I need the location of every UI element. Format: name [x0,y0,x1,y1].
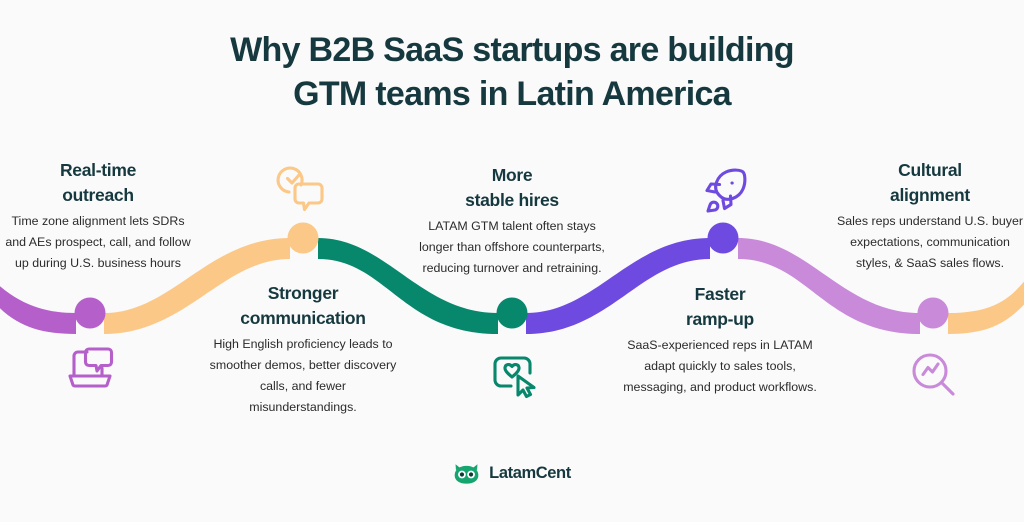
step-title-2-line-2: communication [240,308,365,328]
wave-segment-6 [948,272,1024,334]
infographic-canvas: Why B2B SaaS startups are building GTM t… [0,0,1024,522]
wave-node-5 [918,298,949,329]
step-item-3: More stable hires LATAM GTM talent often… [412,163,612,279]
step-body-1: Time zone alignment lets SDRs and AEs pr… [0,211,196,274]
wave-node-2 [288,223,319,254]
page-title: Why B2B SaaS startups are building GTM t… [0,28,1024,116]
laptop-chat-icon [62,340,118,396]
title-line-1: Why B2B SaaS startups are building [0,28,1024,72]
step-item-5: Cultural alignment Sales reps understand… [832,158,1024,274]
wave-segment-1 [0,281,76,334]
step-body-4: SaaS-experienced reps in LATAM adapt qui… [620,335,820,398]
step-title-4-line-1: Faster [695,284,746,304]
wave-node-4 [708,223,739,254]
wave-node-1 [75,298,106,329]
step-item-4: Faster ramp-up SaaS-experienced reps in … [620,282,820,398]
step-title-4-line-2: ramp-up [686,309,754,329]
step-title-2: Stronger communication [205,281,401,331]
step-title-1-line-2: outreach [62,185,134,205]
step-body-5: Sales reps understand U.S. buyer expecta… [832,211,1024,274]
step-title-2-line-1: Stronger [268,283,339,303]
step-body-3: LATAM GTM talent often stays longer than… [412,216,612,279]
step-title-3: More stable hires [412,163,612,213]
step-item-2: Stronger communication High English prof… [205,281,401,418]
brand-name: LatamCent [489,464,571,483]
step-title-4: Faster ramp-up [620,282,820,332]
search-trend-icon [905,346,961,402]
wave-node-3 [497,298,528,329]
step-title-1: Real-time outreach [0,158,196,208]
step-title-3-line-1: More [492,165,533,185]
check-chat-icon [273,161,329,217]
step-title-5-line-1: Cultural [898,160,962,180]
step-body-2: High English proficiency leads to smooth… [205,334,401,418]
brand-logo: LatamCent [0,460,1024,487]
step-title-5-line-2: alignment [890,185,970,205]
step-title-5: Cultural alignment [832,158,1024,208]
rocket-icon [696,162,752,218]
heart-cursor-icon [484,345,540,401]
title-line-2: GTM teams in Latin America [0,72,1024,116]
latamcent-owl-logo [453,460,480,487]
step-title-1-line-1: Real-time [60,160,136,180]
step-item-1: Real-time outreach Time zone alignment l… [0,158,196,274]
step-title-3-line-2: stable hires [465,190,559,210]
